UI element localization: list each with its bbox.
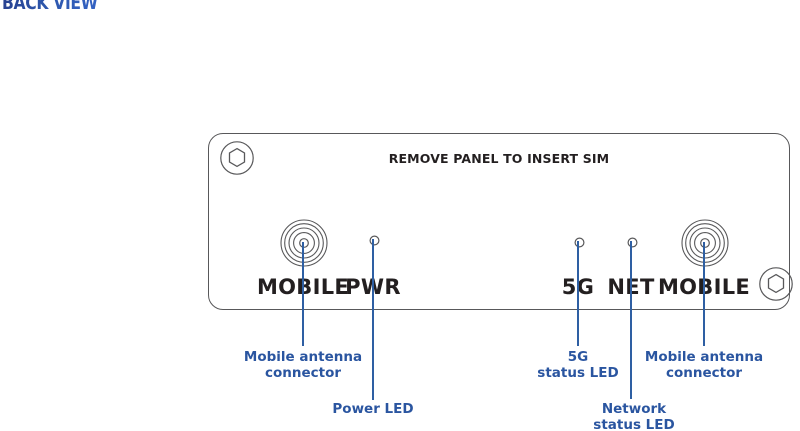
callout-mobile-right-line1: Mobile antenna <box>645 350 763 366</box>
callout-power-led-line1: Power LED <box>332 402 413 418</box>
leader-line-mobile-left <box>302 242 304 346</box>
callout-network-led-line1: Network <box>593 402 674 418</box>
port-pwr-led-icon <box>369 235 380 246</box>
callout-network-led-line2: status LED <box>593 418 674 431</box>
callout-mobile-left: Mobile antenna connector <box>244 350 362 382</box>
callout-5g-led: 5G status LED <box>537 350 618 382</box>
port-mobile-right-sma-icon <box>680 218 730 268</box>
callout-5g-led-line2: status LED <box>537 366 618 382</box>
section-title: BACK VIEW <box>2 0 98 13</box>
port-net-led-icon <box>627 237 638 248</box>
back-view-diagram: BACK VIEW REMOVE PANEL TO INSERT SIM <box>0 0 800 431</box>
callout-mobile-left-line2: connector <box>244 366 362 382</box>
port-5g-led-icon <box>574 237 585 248</box>
callout-5g-led-line1: 5G <box>537 350 618 366</box>
leader-line-network-led <box>630 241 632 399</box>
leader-line-mobile-right <box>703 242 705 346</box>
leader-line-5g-led <box>577 241 579 346</box>
panel-header-text: REMOVE PANEL TO INSERT SIM <box>209 151 789 166</box>
callout-mobile-left-line1: Mobile antenna <box>244 350 362 366</box>
callout-mobile-right-line2: connector <box>645 366 763 382</box>
port-mobile-left-sma-icon <box>279 218 329 268</box>
callout-mobile-right: Mobile antenna connector <box>645 350 763 382</box>
hex-screw-bottom-right-icon <box>758 266 794 302</box>
leader-line-power-led <box>372 239 374 400</box>
callout-network-led: Network status LED <box>593 402 674 431</box>
callout-power-led: Power LED <box>332 402 413 418</box>
